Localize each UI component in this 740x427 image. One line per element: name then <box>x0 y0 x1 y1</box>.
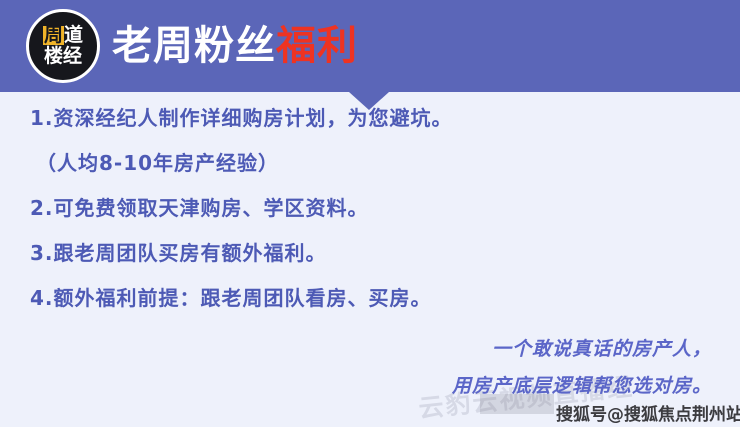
site-watermark: 搜狐号@搜狐焦点荆州站 <box>556 400 740 425</box>
logo-line-bottom: 楼经 <box>44 47 82 66</box>
list-item: 4.额外福利前提：跟老周团队看房、买房。 <box>30 288 720 308</box>
logo-highlight-char: 周 <box>43 26 64 45</box>
list-item: 3.跟老周团队买房有额外福利。 <box>30 243 720 263</box>
slogan-line-1: 一个敢说真话的房产人， <box>452 340 712 359</box>
page-title-main: 老周粉丝 <box>112 26 276 66</box>
list-item: 2.可免费领取天津购房、学区资料。 <box>30 198 720 218</box>
header-bar <box>0 0 740 92</box>
logo-top-rest: 道 <box>64 26 83 45</box>
list-item: 1.资深经纪人制作详细购房计划，为您避坑。 <box>30 108 720 128</box>
benefit-list: 1.资深经纪人制作详细购房计划，为您避坑。 （人均8-10年房产经验） 2.可免… <box>30 108 720 333</box>
page-title-accent: 福利 <box>276 26 358 66</box>
page-title: 老周粉丝福利 <box>112 15 358 77</box>
slogan-line-2: 用房产底层逻辑帮您选对房。 <box>452 377 712 396</box>
brand-logo: 周道 楼经 <box>26 9 100 83</box>
poster-canvas: 周道 楼经 老周粉丝福利 1.资深经纪人制作详细购房计划，为您避坑。 （人均8-… <box>0 0 740 427</box>
logo-line-top: 周道 <box>43 26 83 45</box>
list-item-note: （人均8-10年房产经验） <box>30 153 720 173</box>
